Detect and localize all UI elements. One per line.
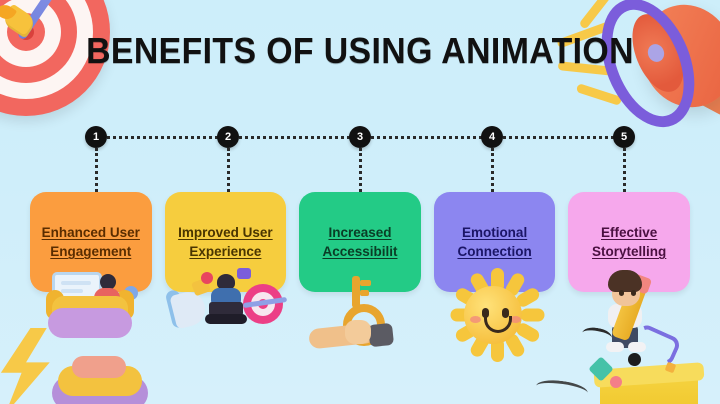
drop-line-4 <box>491 148 494 192</box>
timeline-badge-3[interactable]: 3 <box>349 126 371 148</box>
timeline-badge-4[interactable]: 4 <box>481 126 503 148</box>
card-label-4-line1: Emotional <box>462 225 527 240</box>
drop-line-5 <box>623 148 626 192</box>
timeline-badge-1[interactable]: 1 <box>85 126 107 148</box>
smiling-sun-icon <box>434 270 556 355</box>
confetti-box-icon <box>594 352 706 404</box>
card-label-2-line1: Improved User <box>178 225 273 240</box>
megaphone-icon <box>572 0 720 146</box>
person-on-couch-with-laptop-icon <box>30 270 152 355</box>
card-label-2: Improved User Experience <box>172 223 279 261</box>
page-title: BENEFITS OF USING ANIMATION <box>22 30 699 72</box>
benefit-card-improved-user-experience[interactable]: Improved User Experience <box>165 192 287 292</box>
card-label-4: Emotional Connection <box>451 223 537 261</box>
drop-line-3 <box>359 148 362 192</box>
drop-line-1 <box>95 148 98 192</box>
card-label-5-line2: Storytelling <box>592 244 666 259</box>
timeline-badge-2[interactable]: 2 <box>217 126 239 148</box>
drop-line-2 <box>227 148 230 192</box>
card-label-3-line2: Accessibilit <box>322 244 397 259</box>
timeline-badge-5[interactable]: 5 <box>613 126 635 148</box>
benefit-card-emotional-connection[interactable]: Emotional Connection <box>434 192 556 292</box>
megaphone-person-target-icon <box>165 270 287 355</box>
card-label-3: Increased Accessibilit <box>316 223 403 261</box>
benefit-card-enhanced-user-engagement[interactable]: Enhanced User Engagement <box>30 192 152 292</box>
benefit-card-effective-storytelling[interactable]: Effective Storytelling <box>568 192 690 292</box>
card-label-5-line1: Effective <box>601 225 657 240</box>
card-label-2-line2: Experience <box>189 244 261 259</box>
timeline: 1 2 3 4 5 <box>30 126 690 148</box>
sofa-decoration-icon <box>52 376 148 404</box>
benefit-card-list: Enhanced User Engagement Improved User E… <box>30 192 690 292</box>
card-label-5: Effective Storytelling <box>586 223 672 261</box>
benefit-card-increased-accessibility[interactable]: Increased Accessibilit <box>299 192 421 292</box>
card-label-1: Enhanced User Engagement <box>36 223 146 261</box>
card-label-1-line2: Engagement <box>50 244 131 259</box>
child-with-pencil-icon <box>568 270 690 355</box>
card-label-3-line1: Increased <box>328 225 391 240</box>
card-label-4-line2: Connection <box>457 244 531 259</box>
lightning-bolt-icon <box>0 328 66 404</box>
card-label-1-line1: Enhanced User <box>42 225 140 240</box>
key-in-hand-icon <box>299 270 421 355</box>
slide-canvas: BENEFITS OF USING ANIMATION 1 2 3 4 5 En… <box>0 0 720 404</box>
